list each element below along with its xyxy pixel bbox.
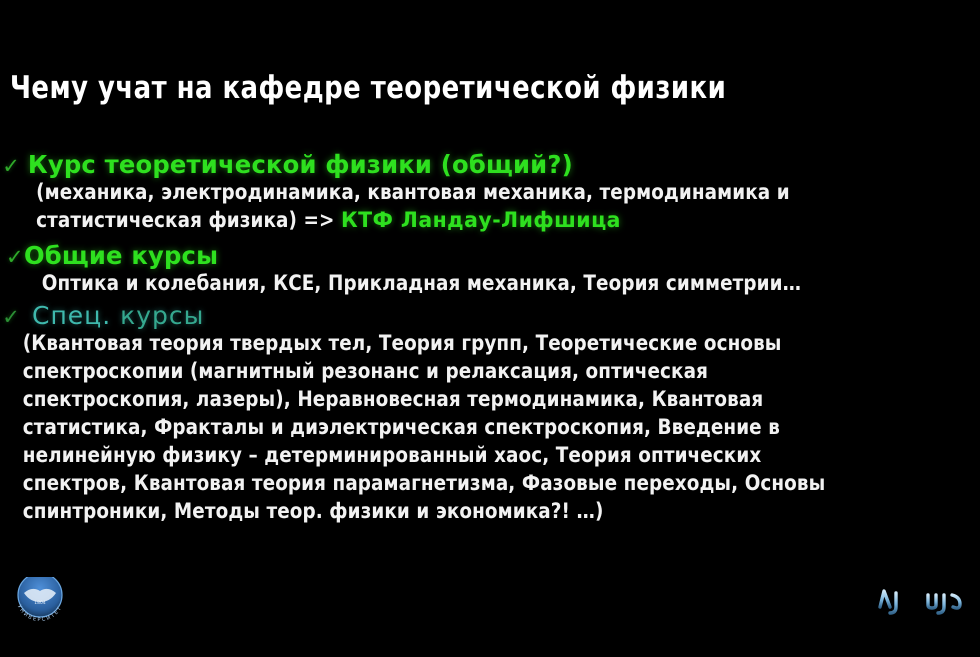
body-line: (Квантовая теория твердых тел, Теория гр…: [0, 330, 931, 358]
section-general-courses: ✓ Общие курсы Оптика и колебания, КСЕ, П…: [0, 241, 980, 298]
heading-part-1: Спец.: [32, 301, 111, 330]
page-title: Чему учат на кафедре теоретической физик…: [10, 70, 726, 106]
checkmark-icon: ✓: [0, 247, 22, 268]
body-line: спектроскопии (магнитный резонанс и рела…: [0, 358, 931, 386]
bullet-row-course-theoretical-physics: ✓ Курс теоретической физики (общий?): [0, 150, 980, 179]
body-text: статистика, Фракталы и диэлектрическая с…: [23, 415, 780, 440]
body-line: статистическая физика) => КТФ Ландау-Лиф…: [0, 207, 931, 235]
svg-text:1804: 1804: [34, 600, 46, 606]
checkmark-icon: ✓: [0, 307, 22, 328]
body-line: спектроскопия, лазеры), Неравновесная те…: [0, 386, 931, 414]
body-text: (механика, электродинамика, квантовая ме…: [36, 180, 790, 205]
section-heading-course-theoretical-physics: Курс теоретической физики (общий?): [22, 150, 573, 179]
body-text: спектроскопии (магнитный резонанс и рела…: [23, 359, 708, 384]
bullet-row-general-courses: ✓ Общие курсы: [0, 241, 980, 270]
body-text: спектров, Квантовая теория парамагнетизм…: [23, 471, 826, 496]
heading-part-2: курсы: [120, 301, 204, 330]
section-heading-special-courses: Спец. курсы: [22, 301, 204, 330]
slide-content: ✓ Курс теоретической физики (общий?) (ме…: [0, 150, 980, 526]
section-special-courses: ✓ Спец. курсы (Квантовая теория твердых …: [0, 301, 980, 526]
checkmark-icon: ✓: [0, 156, 22, 177]
script-wordmark-logo: [870, 581, 974, 625]
section-body-course-theoretical-physics: (механика, электродинамика, квантовая ме…: [0, 179, 980, 235]
body-text: (Квантовая теория твердых тел, Теория гр…: [23, 331, 782, 356]
body-text: Оптика и колебания, КСЕ, Прикладная меха…: [42, 271, 801, 296]
body-text: статистическая физика) =>: [36, 208, 341, 233]
body-line: спинтроники, Методы теор. физики и эконо…: [0, 498, 931, 526]
section-body-general-courses: Оптика и колебания, КСЕ, Прикладная меха…: [0, 270, 980, 298]
highlight-landau-lifshitz: КТФ Ландау-Лифшица: [341, 208, 621, 233]
bullet-row-special-courses: ✓ Спец. курсы: [0, 301, 980, 330]
section-course-theoretical-physics: ✓ Курс теоретической физики (общий?) (ме…: [0, 150, 980, 235]
body-text: нелинейную физику – детерминированный ха…: [23, 443, 761, 468]
section-heading-general-courses: Общие курсы: [22, 241, 218, 270]
slide-canvas: Чему учат на кафедре теоретической физик…: [0, 0, 980, 657]
body-line: статистика, Фракталы и диэлектрическая с…: [0, 414, 931, 442]
body-line: спектров, Квантовая теория парамагнетизм…: [0, 470, 931, 498]
university-seal-logo: 1804 УНИВЕРСИТЕТ: [2, 577, 78, 623]
body-text: спинтроники, Методы теор. физики и эконо…: [23, 499, 604, 524]
body-line: Оптика и колебания, КСЕ, Прикладная меха…: [0, 270, 931, 298]
body-text: спектроскопия, лазеры), Неравновесная те…: [23, 387, 763, 412]
body-line: нелинейную физику – детерминированный ха…: [0, 442, 931, 470]
body-line: (механика, электродинамика, квантовая ме…: [0, 179, 931, 207]
section-body-special-courses: (Квантовая теория твердых тел, Теория гр…: [0, 330, 980, 526]
